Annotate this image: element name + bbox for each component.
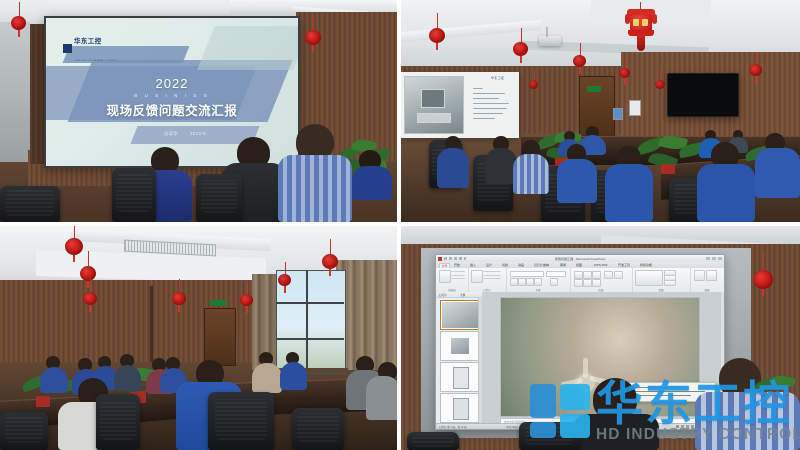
comment-line [633,395,691,396]
ribbon-tab-developer[interactable]: 开发工具 [618,263,630,267]
group-label: 段落 [598,288,603,292]
attendee-body [352,166,392,200]
slide-year: 2022 [46,76,298,91]
slide-thumbnail[interactable] [440,331,480,361]
slide-shape-5 [197,26,298,70]
exit-sign [210,300,226,306]
ribbon-tab-insert[interactable]: 插入 [470,263,476,267]
panel-tab-outline[interactable]: 大纲 [460,293,465,297]
slide-photo [404,76,464,134]
collage-panel-bottom-left [0,226,397,450]
bullets-icon[interactable] [574,271,583,279]
ribbon-tab-animations[interactable]: 动画 [518,263,524,267]
copy-item[interactable] [451,275,465,276]
status-language: 中文(中国) [506,425,518,429]
slide-text-line [473,93,505,94]
collage-panel-top-left: 华东工控 HUADONG INDUSTRIAL CONTROL 2022 B U… [0,0,397,222]
cut-item[interactable] [451,271,465,272]
align-right-icon[interactable] [592,279,601,287]
slide-title: 现场反馈问题交流汇报 [46,100,298,119]
attendee-body [280,362,307,390]
slide-logo-cn: 华东工控 [74,38,102,45]
lantern [278,274,291,286]
wall-notice [629,100,641,116]
photo-collage: 华东工控 HUADONG INDUSTRIAL CONTROL 2022 B U… [0,0,800,450]
wall-wood-divider [150,286,153,362]
slide-logo-cn: 华东工控 [491,76,504,80]
slide-presenter: 吕培华 [164,131,178,137]
ribbon-tab-review[interactable]: 审阅 [560,263,566,267]
ribbon-group-drawing[interactable]: 绘图 [632,268,691,292]
projection-slide-secondary: 华东工控 [401,72,519,138]
strikethrough-icon[interactable] [534,278,542,286]
lantern [322,254,338,269]
find-icon[interactable] [694,270,705,281]
font-color-icon[interactable] [550,278,558,286]
thumbnail-image [451,338,469,354]
attendee-body [114,365,141,391]
slide-text-line [473,98,499,99]
italic-icon[interactable] [518,278,526,286]
slide-text-line [473,88,483,89]
align-center-icon[interactable] [583,279,592,287]
chair [112,168,156,222]
slide-text-line [473,118,495,119]
window-mullion [306,270,308,372]
section-item[interactable] [483,278,501,279]
projector-mount [546,27,548,37]
group-label: 编辑 [704,288,709,292]
comment-line [633,387,679,388]
new-slide-icon[interactable] [471,270,483,283]
window-title: 现场问题汇报 - Microsoft PowerPoint [555,256,606,261]
slide-logo: 华东工控 HUADONG INDUSTRIAL CONTROL [63,30,118,66]
panel-tab-slides[interactable]: 幻灯片 [439,293,447,297]
attendee-body [697,164,755,222]
paste-icon[interactable] [439,270,451,283]
lantern [513,42,528,56]
font-name-box[interactable] [510,271,544,277]
ribbon-group-paragraph[interactable]: 段落 [570,268,633,292]
ribbon-tab-design[interactable]: 设计 [486,263,492,267]
font-size-box[interactable] [546,271,566,277]
attendee-body [252,363,282,393]
attendee-body [573,414,659,450]
lantern [429,28,445,43]
thumbnail-image [442,302,478,328]
ribbon-tab-view[interactable]: 视图 [576,263,582,267]
exit-sign [587,86,601,92]
slide-logo-sub: HUADONG INDUSTRIAL CONTROL [74,60,118,62]
ribbon[interactable]: 剪贴板 幻灯片 字体 [436,268,724,293]
slide-footer: 吕培华 2022-6 [164,131,206,137]
lantern [749,64,762,76]
ribbon-group-editing[interactable]: 编辑 [690,268,724,292]
ribbon-group-font[interactable]: 字体 [506,268,571,292]
ribbon-tab-slideshow[interactable]: 幻灯片放映 [534,263,549,267]
slide-thumbnail[interactable] [440,393,480,423]
chair [0,186,60,222]
chair [0,412,48,450]
reset-item[interactable] [483,275,501,276]
line-spacing-icon[interactable] [604,271,613,279]
lantern [65,238,83,255]
shape-effects-icon[interactable] [664,280,676,286]
collage-panel-top-right: 华东工控 [401,0,800,222]
group-label: 剪贴板 [448,288,456,292]
slide-subtitle: B U S I N I S S [46,93,298,98]
lantern [240,294,253,306]
lantern [753,270,773,289]
wall-pillar [30,24,44,164]
attendee-body [605,164,653,222]
equipment-panel [417,113,451,123]
attendee-body [366,376,397,420]
ribbon-tab-home[interactable]: 开始 [454,263,460,267]
underline-icon[interactable] [526,278,534,286]
slide-text-line [473,113,503,114]
slide-text-line [473,108,507,109]
wall-notice [613,108,623,120]
wall-upper [0,22,30,162]
attendee-body [278,155,352,222]
lantern [573,55,586,67]
quick-access-toolbar[interactable] [444,257,466,260]
ribbon-group-slides[interactable]: 幻灯片 [468,268,507,292]
layout-item[interactable] [483,271,501,272]
shapes-gallery-icon[interactable] [635,270,663,286]
chair [407,432,459,450]
projector [539,36,561,46]
window-mullion [276,338,344,340]
lantern [619,68,630,78]
slide-thumbnail[interactable] [440,362,480,392]
numbering-icon[interactable] [583,271,592,279]
plant [753,376,799,404]
ribbon-tab-wpspdf[interactable]: WPS PDF [594,263,608,267]
app-icon [438,257,442,261]
lantern [80,266,96,281]
align-left-icon[interactable] [574,279,583,287]
palace-lantern [625,2,657,54]
window-mullion [276,302,344,304]
group-label: 幻灯片 [483,288,491,292]
comment-line [633,391,705,392]
lantern [83,292,97,305]
ribbon-group-clipboard[interactable]: 剪贴板 [436,268,469,292]
lantern [305,30,321,45]
fan-blade [584,390,589,410]
logo-mark-icon [63,44,72,53]
slide-text-line [473,103,509,104]
attendee-body [437,148,469,188]
chair [196,174,242,222]
equipment-cabinet [421,89,445,108]
thumbnail-image [453,398,469,420]
lantern [11,16,26,30]
group-label: 绘图 [658,288,663,292]
view-buttons[interactable] [676,425,694,428]
slide-date: 2022-6 [190,131,206,137]
attendee-body [755,148,800,198]
chair [208,392,274,450]
replace-icon[interactable] [706,270,717,281]
wall-tv [667,73,739,117]
ribbon-tab-transitions[interactable]: 切换 [502,263,508,267]
status-slide-counter: 幻灯片 第 1 张，共 12 张 [439,425,467,429]
powerpoint-window[interactable]: 现场问题汇报 - Microsoft PowerPoint 文件 开始 插入 设… [435,254,725,430]
door [204,308,236,366]
attendee-body [557,159,597,203]
convert-smartart-icon[interactable] [614,271,623,279]
format-painter-item[interactable] [451,278,465,279]
group-label: 字体 [535,288,540,292]
chair [292,408,344,450]
lantern [529,80,538,89]
slide-thumbnail[interactable] [440,300,480,330]
lantern [172,292,186,305]
window-controls[interactable] [706,257,722,260]
thumbnail-image [453,367,469,389]
slide-thumbnail-panel[interactable]: 幻灯片 大纲 [436,292,483,424]
indent-icon[interactable] [592,271,601,279]
panel-tabs[interactable]: 幻灯片 大纲 [436,292,482,298]
chair [96,394,140,450]
chair [519,422,579,450]
bold-icon[interactable] [510,278,518,286]
attendee-body [513,154,549,194]
attendee-body [40,367,68,393]
lantern [655,80,665,89]
ribbon-tab-file[interactable]: 文件 [439,263,450,268]
ribbon-tab-features[interactable]: 特色功能 [640,263,652,267]
fan-blade [583,358,588,378]
collage-panel-bottom-right: 现场问题汇报 - Microsoft PowerPoint 文件 开始 插入 设… [401,226,800,450]
